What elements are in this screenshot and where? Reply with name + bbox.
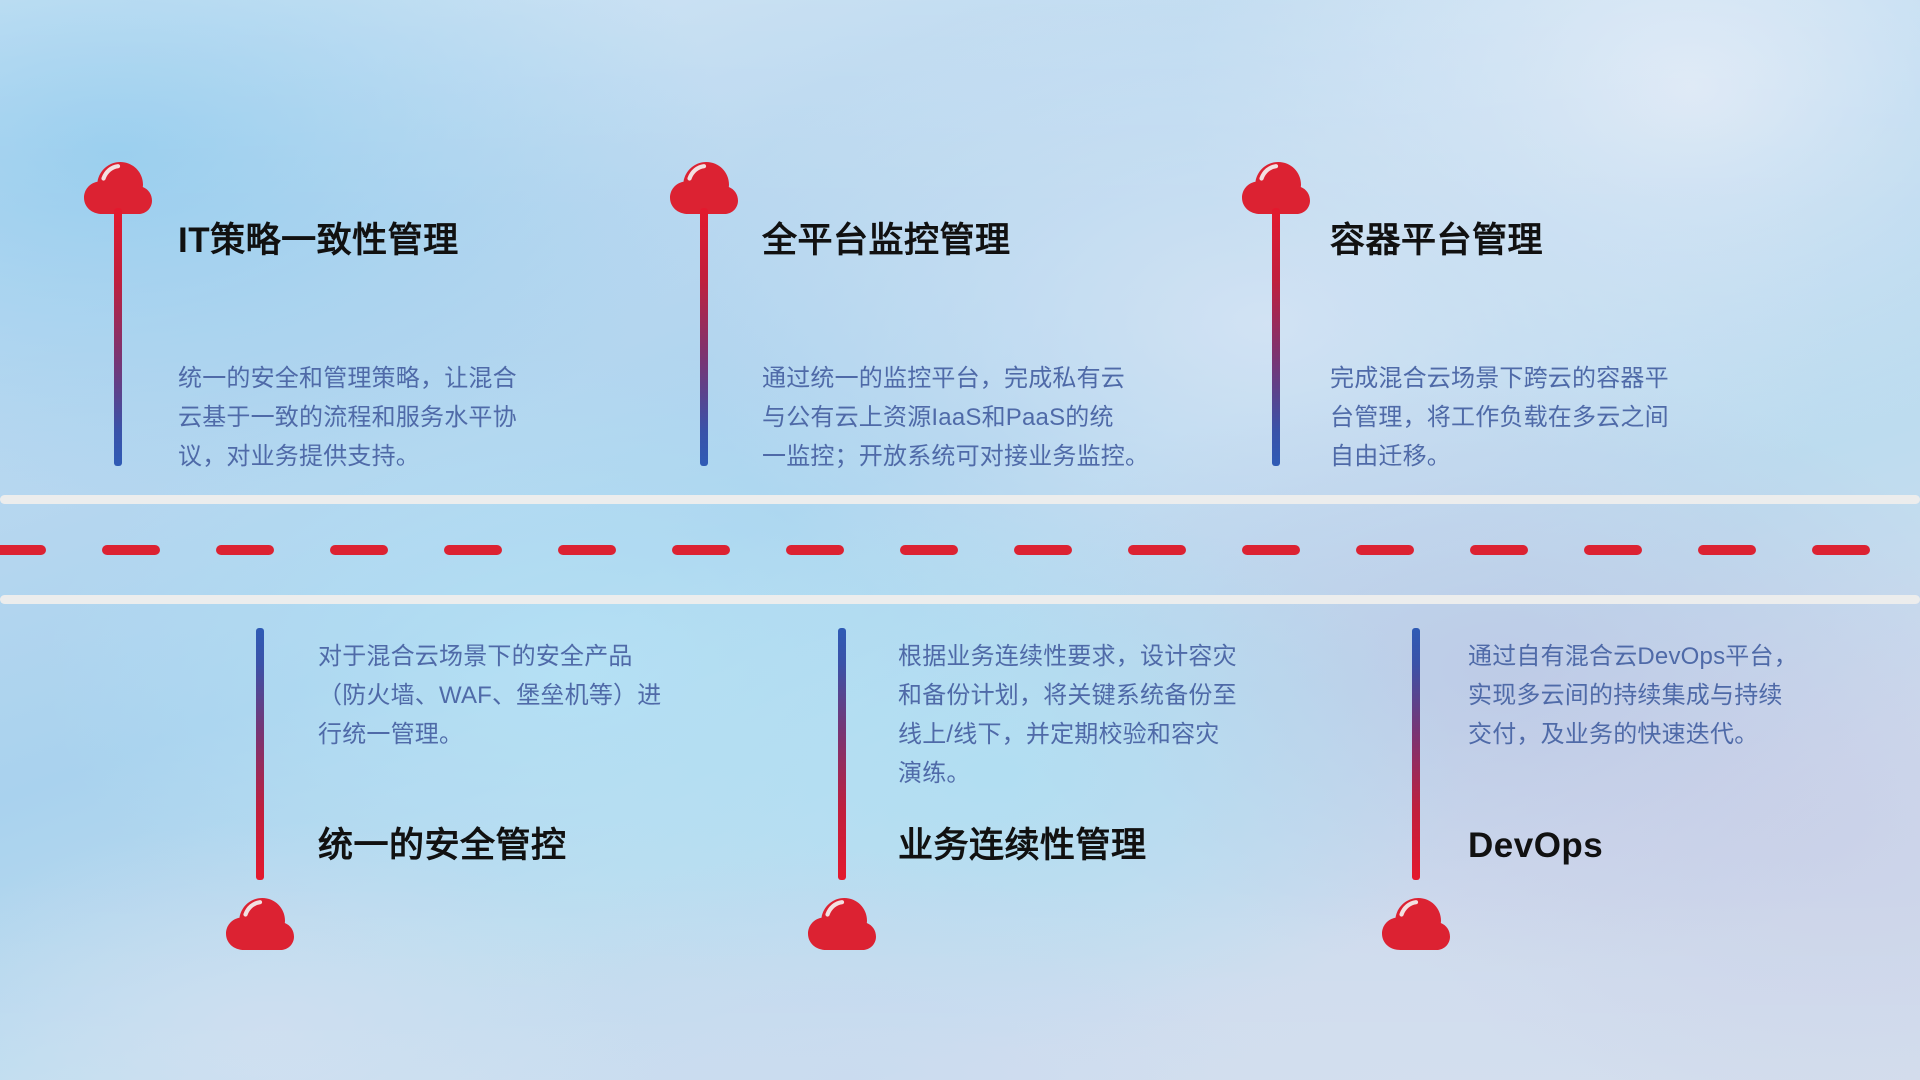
node-title: 统一的安全管控 (318, 825, 567, 867)
dash-segment (1698, 545, 1756, 555)
node-title: IT策略一致性管理 (178, 220, 459, 262)
node-title: 容器平台管理 (1330, 220, 1543, 262)
dash-segment (1470, 545, 1528, 555)
cloud-icon (806, 896, 878, 952)
node-title: 全平台监控管理 (762, 220, 1011, 262)
white-rail-bottom (0, 595, 1920, 604)
node-description: 统一的安全和管理策略，让混合 云基于一致的流程和服务水平协 议，对业务提供支持。 (178, 360, 608, 477)
dash-segment (1584, 545, 1642, 555)
dash-segment (1128, 545, 1186, 555)
node-description: 根据业务连续性要求，设计容灾 和备份计划，将关键系统备份至 线上/线下，并定期校… (898, 638, 1328, 794)
node-title: DevOps (1468, 825, 1603, 867)
node-stem (838, 628, 846, 880)
dash-segment (216, 545, 274, 555)
dash-segment (558, 545, 616, 555)
cloud-icon (1380, 896, 1452, 952)
node-stem (700, 208, 708, 466)
dash-segment (0, 545, 46, 555)
dash-segment (444, 545, 502, 555)
node-description: 通过自有混合云DevOps平台， 实现多云间的持续集成与持续 交付，及业务的快速… (1468, 638, 1898, 755)
dash-segment (330, 545, 388, 555)
node-description: 对于混合云场景下的安全产品 （防火墙、WAF、堡垒机等）进 行统一管理。 (318, 638, 748, 755)
white-rail-top (0, 495, 1920, 504)
node-description: 完成混合云场景下跨云的容器平 台管理，将工作负载在多云之间 自由迁移。 (1330, 360, 1780, 477)
node-title: 业务连续性管理 (898, 825, 1147, 867)
dash-segment (786, 545, 844, 555)
node-description: 通过统一的监控平台，完成私有云 与公有云上资源IaaS和PaaS的统 一监控；开… (762, 360, 1232, 477)
dash-segment (1356, 545, 1414, 555)
dash-segment (1242, 545, 1300, 555)
node-stem (1412, 628, 1420, 880)
node-stem (256, 628, 264, 880)
node-stem (114, 208, 122, 466)
infographic-stage: IT策略一致性管理 统一的安全和管理策略，让混合 云基于一致的流程和服务水平协 … (0, 0, 1920, 1080)
cloud-icon (224, 896, 296, 952)
dash-segment (900, 545, 958, 555)
node-stem (1272, 208, 1280, 466)
dash-segment (1812, 545, 1870, 555)
dash-segment (102, 545, 160, 555)
dash-segment (672, 545, 730, 555)
dash-segment (1014, 545, 1072, 555)
